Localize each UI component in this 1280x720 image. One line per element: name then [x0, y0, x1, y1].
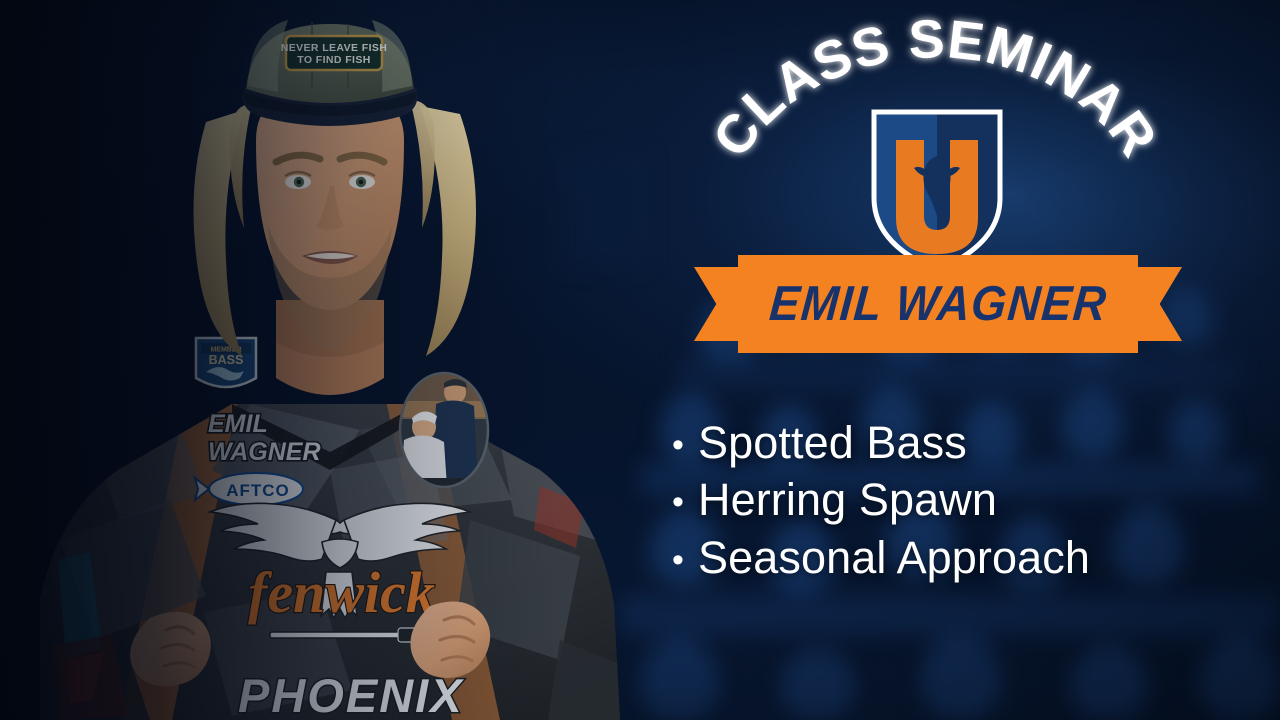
bullet-icon: •: [672, 428, 698, 462]
topic-label: Spotted Bass: [698, 418, 967, 468]
list-item: • Seasonal Approach: [672, 533, 1232, 583]
bullet-icon: •: [672, 543, 698, 577]
presenter-photo: MEMBER BASS EMIL WAGNER AFTCO: [0, 0, 680, 720]
topic-label: Seasonal Approach: [698, 533, 1090, 583]
bass-member-patch: MEMBER BASS: [196, 338, 256, 387]
presenter-name-ribbon: EMIL WAGNER: [694, 255, 1182, 353]
couple-photo-patch: [400, 373, 488, 490]
cap-text-line2: TO FIND FISH: [297, 54, 370, 66]
cap-text-line1: NEVER LEAVE FISH: [281, 42, 388, 54]
presenter-name-text: EMIL WAGNER: [767, 276, 1109, 332]
ribbon-body: EMIL WAGNER: [738, 255, 1138, 353]
list-item: • Spotted Bass: [672, 418, 1232, 468]
bullet-icon: •: [672, 485, 698, 519]
topic-label: Herring Spawn: [698, 475, 997, 525]
phoenix-text: PHOENIX: [238, 669, 464, 720]
fenwick-text: fenwick: [248, 560, 435, 625]
presenter-jersey: MEMBER BASS EMIL WAGNER AFTCO: [40, 338, 620, 720]
list-item: • Herring Spawn: [672, 475, 1232, 525]
jersey-name-line2: WAGNER: [208, 438, 321, 466]
bass-university-shield-logo: [866, 104, 1008, 276]
topics-list: • Spotted Bass • Herring Spawn • Seasona…: [672, 418, 1232, 590]
aftco-text: AFTCO: [226, 481, 290, 500]
jersey-name-line1: EMIL: [208, 410, 268, 438]
presenter-cap: NEVER LEAVE FISH TO FIND FISH: [243, 20, 418, 126]
seminar-title-card: MEMBER BASS EMIL WAGNER AFTCO: [0, 0, 1280, 720]
patch-bass-text: BASS: [209, 353, 244, 367]
